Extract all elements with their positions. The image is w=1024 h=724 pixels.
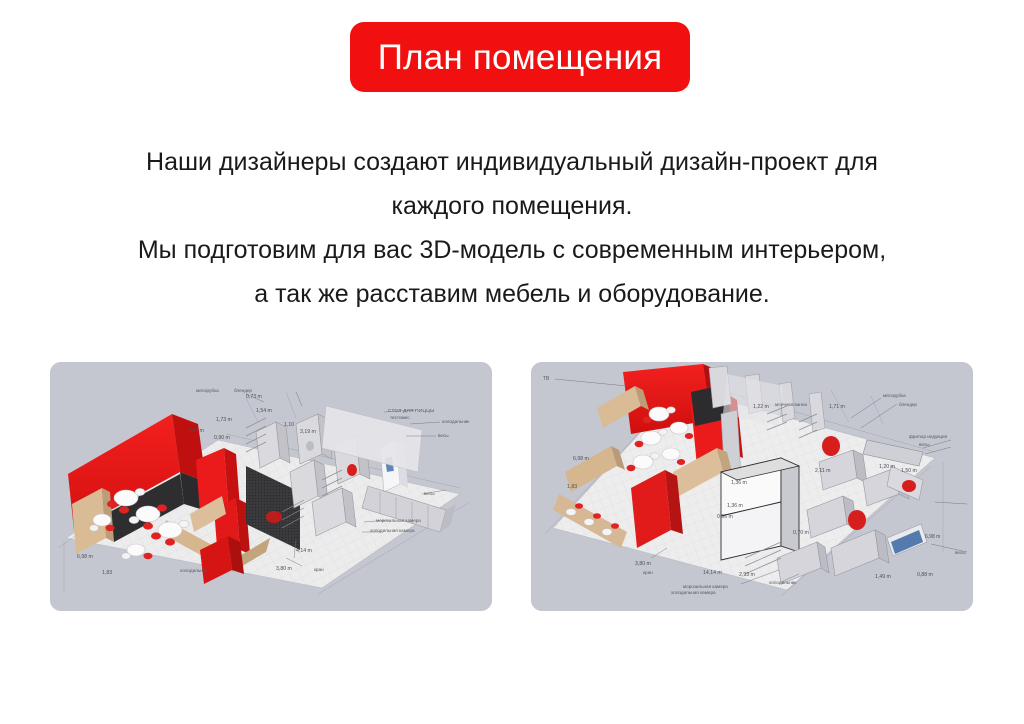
equipment-label: весы	[919, 442, 930, 447]
equipment-label: СТОЛ ДЛЯ ПИЦЦЫ	[388, 408, 434, 414]
equipment-label: весы	[955, 550, 966, 555]
dimension-label: 1,50 m	[901, 468, 917, 474]
equipment-label: холодильная камера	[370, 528, 415, 533]
equipment-label: морозильная камера	[683, 584, 728, 589]
equipment-label: весы	[424, 491, 435, 496]
dimension-label: 0,88 m	[917, 572, 933, 578]
equipment-label: холодильник	[769, 580, 797, 585]
equipment-label: кран	[643, 570, 653, 575]
dimension-label: 1,22 m	[753, 404, 769, 410]
dimension-label: 2,00 m	[188, 428, 204, 434]
dimension-label: 2,93 m	[739, 572, 755, 578]
dimension-label: 6,98 m	[573, 456, 589, 462]
dimension-label: 3,80 m	[635, 561, 651, 567]
equipment-label: тестомес	[390, 415, 410, 420]
dimension-label: 1,10	[284, 422, 294, 428]
equipment-label: весы	[438, 433, 449, 438]
floor-plan-panel-left[interactable]: 6,98 m 1,83 1,54 m 3,19 m 4,14 m 3,80 m …	[50, 362, 492, 611]
dimension-label: 1,83	[102, 570, 112, 576]
floor-plan-image-right: 6,98 m 1,83 14,14 m 2,93 m 3,80 m 1,36 m…	[531, 362, 973, 611]
dimension-label: 0,73 m	[246, 394, 262, 400]
dimension-label: 3,80 m	[276, 566, 292, 572]
dimension-label: 1,36 m	[727, 503, 743, 509]
equipment-label: холодильная камера	[671, 590, 716, 595]
dimension-label: 4,14 m	[296, 548, 312, 554]
dimension-label: 3,19 m	[300, 429, 316, 435]
floor-plan-gallery: 6,98 m 1,83 1,54 m 3,19 m 4,14 m 3,80 m …	[0, 0, 1024, 724]
dimension-label: 14,14 m	[703, 570, 722, 576]
dimension-label: 1,83	[567, 484, 577, 490]
dimension-label: 0,70 m	[793, 530, 809, 536]
equipment-label: холодильник	[180, 568, 208, 573]
equipment-label: мясорубка	[196, 388, 219, 393]
dimension-label: 0,90 m	[214, 435, 230, 441]
equipment-label: моечная ванна	[775, 402, 807, 407]
dimension-label: 6,98 m	[77, 554, 93, 560]
dimension-label: 1,49 m	[875, 574, 891, 580]
dimension-label: 2,11 m	[815, 468, 830, 474]
equipment-label: блендер	[899, 402, 917, 407]
dimension-label: 0,96 m	[717, 514, 733, 520]
equipment-label: морозильная камера	[376, 518, 421, 523]
dimension-label: 1,54 m	[256, 408, 272, 414]
equipment-label: блендер	[234, 388, 252, 393]
dimension-label: 1,73 m	[216, 417, 232, 423]
equipment-label: мясорубка	[883, 393, 906, 398]
dimension-label: 1,36 m	[731, 480, 747, 486]
dimension-label: 6,98 m	[925, 534, 940, 540]
floor-plan-panel-right[interactable]: 6,98 m 1,83 14,14 m 2,93 m 3,80 m 1,36 m…	[531, 362, 973, 611]
equipment-label: холодильник	[442, 419, 470, 424]
equipment-label: фритюр индукция	[909, 434, 948, 439]
dimension-label: 1,20 m	[879, 464, 895, 470]
dimension-label: 1,71 m	[829, 404, 845, 410]
equipment-label: ТВ	[543, 376, 550, 382]
equipment-label: кран	[314, 567, 324, 572]
floor-plan-image-left: 6,98 m 1,83 1,54 m 3,19 m 4,14 m 3,80 m …	[50, 362, 492, 611]
